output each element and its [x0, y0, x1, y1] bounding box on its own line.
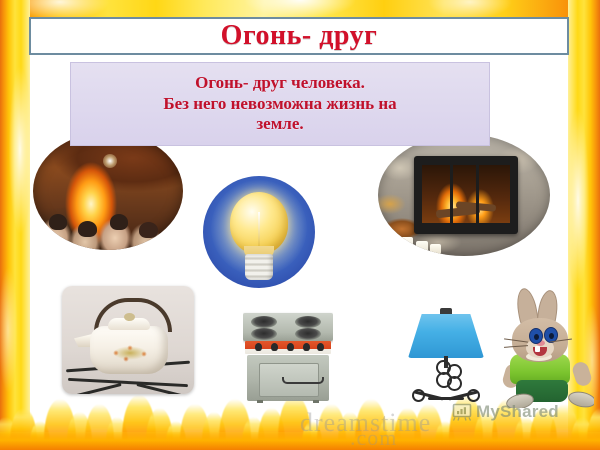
flame-tongue — [10, 408, 37, 450]
bunny-clipart — [502, 288, 594, 408]
stove-knob — [255, 343, 262, 351]
flame-tongue — [571, 417, 594, 450]
bunny-foot — [567, 389, 594, 408]
flame-tongue — [587, 408, 600, 450]
flame-tongue — [122, 395, 156, 450]
stove-knob — [317, 343, 324, 351]
subtitle-line: земле. — [163, 114, 396, 135]
myshared-label: MyShared — [476, 402, 559, 422]
fireplace-frame — [414, 156, 518, 234]
bonfire-head — [49, 214, 67, 230]
flame-tongue — [44, 399, 75, 450]
flame-tongue — [106, 417, 129, 450]
stove-knob — [287, 343, 294, 351]
kettle-knob — [124, 313, 135, 321]
stove-burner — [295, 316, 321, 328]
bonfire-spark — [103, 154, 117, 168]
stove-body — [247, 355, 329, 401]
bonfire-head — [139, 222, 158, 238]
candle — [400, 237, 413, 254]
lamp-foot-curl — [467, 389, 480, 402]
lamp-foot — [428, 397, 464, 400]
bonfire-head — [78, 221, 97, 237]
stove-knob — [303, 343, 310, 351]
flame-tongue — [30, 421, 50, 450]
subtitle-line: Огонь- друг человека. — [163, 73, 396, 94]
bunny-pupil — [534, 334, 539, 340]
flame-tongue — [202, 412, 227, 450]
flame-tongue — [180, 404, 209, 450]
flame-tongue — [435, 421, 455, 450]
kettle-photo — [62, 286, 194, 394]
slide-canvas: Огонь- друг человека.Без него невозможна… — [0, 0, 600, 450]
stove-burner — [251, 328, 277, 340]
lightbulb-screw-base — [245, 254, 273, 280]
title-box: Огонь- друг — [29, 17, 569, 55]
kettle-floral-decal — [106, 342, 154, 364]
flame-tongue — [0, 417, 17, 450]
lamp-base — [414, 388, 478, 400]
subtitle-line: Без него невозможна жизнь на — [163, 94, 396, 115]
flame-tongue — [242, 417, 265, 450]
bonfire-photo — [33, 132, 183, 250]
stove-oven-handle — [282, 377, 324, 384]
table-lamp-image — [392, 300, 502, 405]
candle — [416, 241, 428, 254]
stove-burner — [251, 316, 277, 328]
gas-stove-image — [243, 303, 333, 403]
fireplace-mullion — [476, 165, 479, 223]
lightbulb-image — [203, 176, 315, 288]
stove-burner — [295, 328, 321, 340]
flame-tongue — [67, 412, 92, 450]
subtitle-text: Огонь- друг человека.Без него невозможна… — [163, 73, 396, 135]
bonfire-head — [110, 214, 128, 230]
flame-tongue — [166, 421, 186, 450]
fireplace-mullion — [450, 165, 453, 223]
stove-oven-door — [259, 363, 319, 397]
lightbulb-filament — [258, 212, 260, 246]
fireplace-photo — [378, 134, 550, 256]
myshared-watermark: MyShared — [452, 402, 559, 422]
candle — [430, 244, 441, 254]
bunny-eye — [529, 328, 543, 344]
fireplace-candles — [400, 234, 446, 254]
flame-tongue — [219, 399, 250, 450]
lamp-foot-curl — [412, 389, 425, 402]
fireplace-fire — [422, 165, 510, 223]
bunny-pupil — [549, 333, 554, 339]
presentation-chart-icon — [452, 403, 472, 421]
flame-border-left — [0, 0, 30, 450]
dreamstime-watermark-suffix: .com — [350, 425, 397, 450]
stove-leg — [257, 400, 263, 403]
page-title: Огонь- друг — [221, 22, 378, 50]
stove-leg — [313, 400, 319, 403]
stove-knob — [271, 343, 278, 351]
flame-tongue — [258, 408, 285, 450]
bunny-tooth — [535, 346, 540, 352]
grate-bar — [68, 378, 188, 387]
bunny-arm — [571, 360, 594, 388]
grate-bar — [72, 383, 121, 394]
stove-cooktop — [243, 313, 333, 341]
flame-tongue — [146, 408, 173, 450]
flame-tongue — [85, 404, 114, 450]
lamp-shade — [408, 314, 484, 358]
subtitle-box: Огонь- друг человека.Без него невозможна… — [70, 62, 490, 146]
